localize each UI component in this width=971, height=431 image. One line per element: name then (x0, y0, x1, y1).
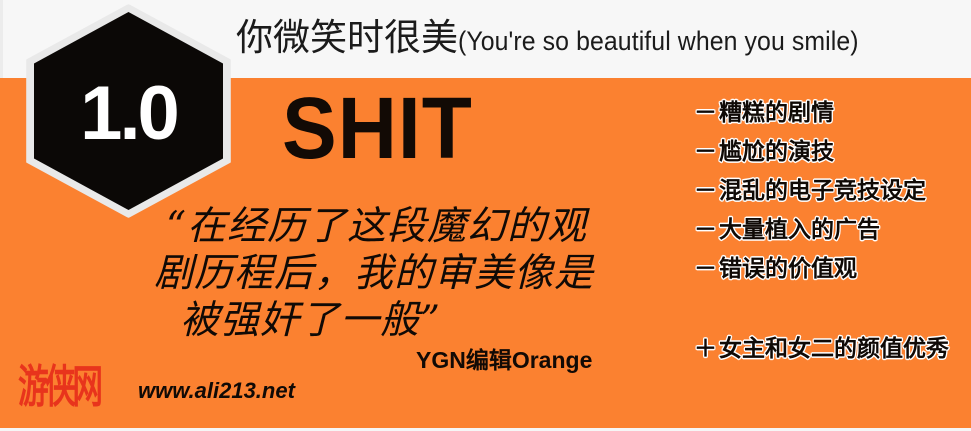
pro-item-label: 女主和女二的颜值优秀 (719, 336, 949, 362)
site-url: www.ali213.net (138, 378, 295, 404)
con-item-label: 尴尬的演技 (719, 139, 834, 165)
score-badge: 1.0 (26, 4, 231, 218)
review-score-card: 1.0 你微笑时很美 (You're so beautiful when you… (0, 0, 971, 431)
con-item: －混乱的电子竞技设定 (694, 172, 966, 211)
plus-icon: ＋ (694, 336, 717, 362)
verdict-label: SHIT (282, 86, 473, 173)
con-item: －尴尬的演技 (694, 133, 966, 172)
quote-attribution: YGN编辑Orange (416, 347, 592, 373)
quote-line-2: 剧历程后，我的审美像是 (152, 250, 642, 297)
points-list: －糟糕的剧情 －尴尬的演技 －混乱的电子竞技设定 －大量植入的广告 －错误的价值… (694, 94, 966, 289)
con-item-label: 混乱的电子竞技设定 (719, 178, 926, 204)
title-chinese: 你微笑时很美 (236, 18, 458, 58)
minus-icon: － (694, 100, 717, 126)
minus-icon: － (694, 139, 717, 165)
quote-line-3: 被强奸了一般” (152, 297, 642, 344)
left-edge-strip (0, 0, 3, 78)
con-item-label: 错误的价值观 (719, 256, 857, 282)
site-logo: 游侠网 (18, 362, 100, 412)
page-title: 你微笑时很美 (You're so beautiful when you smi… (236, 18, 894, 64)
con-item: －糟糕的剧情 (694, 94, 966, 133)
pro-item: ＋女主和女二的颜值优秀 (694, 330, 949, 369)
minus-icon: － (694, 256, 717, 282)
con-item-label: 大量植入的广告 (719, 217, 880, 243)
con-item: －大量植入的广告 (694, 211, 966, 250)
minus-icon: － (694, 217, 717, 243)
review-quote: “在经历了这段魔幻的观 剧历程后，我的审美像是 被强奸了一般” (152, 203, 642, 344)
con-item-label: 糟糕的剧情 (719, 100, 834, 126)
quote-line-1: “在经历了这段魔幻的观 (152, 203, 642, 250)
title-english: (You're so beautiful when you smile) (458, 26, 859, 56)
minus-icon: － (694, 178, 717, 204)
con-item: －错误的价值观 (694, 250, 966, 289)
score-value: 1.0 (34, 12, 223, 210)
